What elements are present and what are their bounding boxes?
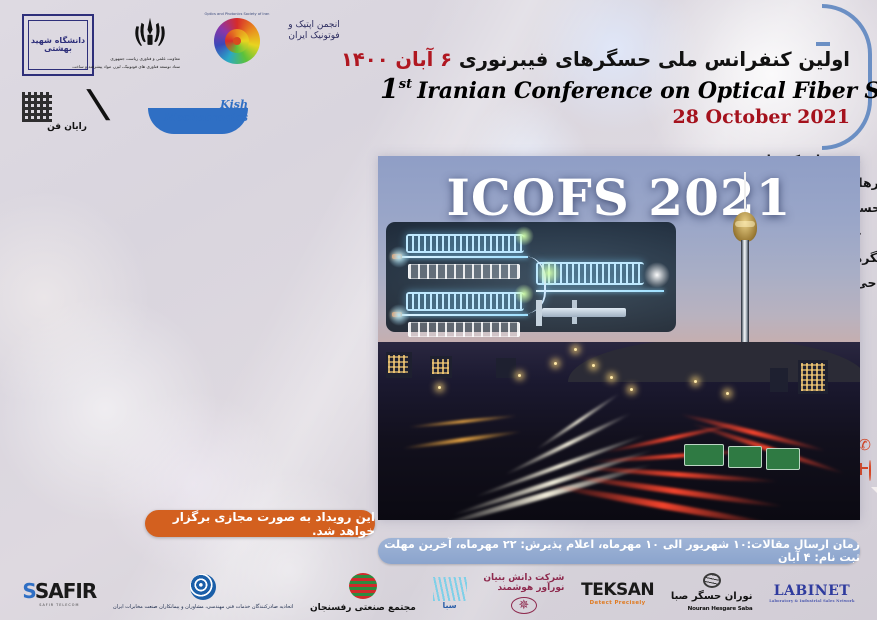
fiber-line-top — [394, 256, 528, 258]
sponsor-teksan-name: TEKSAN — [581, 580, 654, 600]
saba-fan-icon — [433, 577, 467, 601]
conference-title-en-wrap: 1st Iranian Conference on Optical Fiber … — [380, 74, 850, 105]
sponsor-labinet-sub: Laboratory & Industrial Sales Network — [769, 599, 854, 603]
road-sign — [766, 448, 800, 470]
sponsor-nouran-name: نوران حسگر صبا — [671, 591, 753, 602]
building — [496, 358, 516, 378]
grating-bottom-icon — [408, 322, 520, 337]
sponsor-nooravar-prefix: شرکت دانش بنیان — [483, 573, 564, 583]
icofs-wordmark: ICOFS 2021 — [378, 168, 860, 227]
sponsor-footer: LABINET Laboratory & Industrial Sales Ne… — [0, 566, 877, 620]
logo-rayan-fan: ⟋ رایان فن — [22, 90, 112, 142]
street-lamp — [694, 380, 697, 383]
conference-ordinal: 1st — [380, 74, 412, 105]
street-lamp — [574, 348, 577, 351]
logo-kish-mechatronics: Kish Mechatronics — [138, 98, 248, 142]
iran-emblem-icon — [120, 16, 180, 50]
light-glow — [388, 246, 410, 268]
street-lamp — [630, 388, 633, 391]
light-glow — [644, 262, 670, 288]
logo-iran-emblem: معاونت علمی و فناوری ریاست جمهوری ستاد ت… — [118, 16, 180, 70]
title-block: اولین کنفرانس ملی حسگرهای فیبرنوری ۶ آبا… — [380, 48, 850, 128]
road-sign — [728, 446, 762, 468]
logo-iran-caption-2: ستاد توسعه فناوری های فوتونیک، لیزر، موا… — [118, 64, 180, 70]
logo-sbu-label: دانشگاه شهید بهشتی — [28, 20, 88, 70]
light-glow — [388, 304, 410, 326]
sponsor-teksan: TEKSAN Detect Precisely — [581, 573, 654, 613]
sponsor-safir-sub: SAFIR TELECOM — [39, 603, 79, 607]
logo-opsi-ring-text: Optics and Photonics Society of Iran — [204, 12, 270, 16]
building-windows — [388, 355, 408, 373]
conference-title-fa: اولین کنفرانس ملی حسگرهای فیبرنوری ۶ آبا… — [380, 48, 850, 71]
conference-ordinal-suffix: st — [399, 77, 412, 92]
light-glow — [536, 260, 562, 286]
fiber-line-bottom — [394, 314, 528, 316]
title-fa-text: اولین کنفرانس ملی حسگرهای فیبرنوری — [459, 48, 850, 71]
sponsor-safir-name: SSAFIR — [22, 579, 96, 603]
light-trail — [402, 430, 521, 451]
sponsor-union-name: اتحادیه صادرکنندگان خدمات فنی مهندسی، مش… — [113, 604, 293, 610]
tehran-highway-night-scene — [378, 342, 860, 520]
street-lamp — [518, 374, 521, 377]
road-sign — [684, 444, 724, 466]
sponsor-saba: سبا — [433, 573, 467, 613]
rafsanjan-emblem-icon — [349, 573, 377, 599]
nouran-coil-icon — [703, 573, 721, 588]
grating-top-icon — [408, 264, 520, 279]
center-hero-image: ICOFS 2021 — [378, 156, 860, 520]
rayan-mark-icon: ⟋ — [53, 90, 116, 122]
sponsor-safir: SSAFIR SAFIR TELECOM — [22, 573, 96, 613]
conference-poster: دانشگاه شهید بهشتی معاونت علمی و فناوری … — [0, 0, 877, 620]
street-lamp — [554, 362, 557, 365]
street-lamp — [438, 386, 441, 389]
logo-kish-label: Kish Mechatronics — [148, 98, 248, 124]
light-glow — [514, 226, 534, 246]
sponsor-labinet-name: LABINET — [774, 583, 850, 599]
street-lamp — [610, 376, 613, 379]
street-lamp — [726, 392, 729, 395]
fiber-line-output — [536, 290, 664, 292]
header-logo-row: دانشگاه شهید بهشتی معاونت علمی و فناوری … — [8, 6, 368, 146]
logo-optics-photonics-society: Optics and Photonics Society of Iran — [204, 12, 270, 74]
union-spiral-icon — [190, 574, 216, 600]
fiber-coil-bottom-icon — [406, 292, 524, 311]
conference-date-fa: ۶ آبان ۱۴۰۰ — [341, 48, 452, 71]
caliper-icon — [536, 300, 626, 326]
conference-date-en: 28 October 2021 — [380, 106, 850, 128]
virtual-event-badge: این رویداد به صورت مجازی برگزار خواهد شد… — [145, 510, 375, 537]
conference-title-en: Iranian Conference on Optical Fiber Sens… — [417, 78, 877, 104]
deadline-bar: زمان ارسال مقالات:۱۰ شهریور الی ۱۰ مهرما… — [378, 538, 860, 564]
street-lamp — [592, 364, 595, 367]
fiber-coil-top-icon — [406, 234, 524, 253]
logo-opsi-disc-icon — [214, 18, 260, 64]
nooravar-emblem-icon: ✵ — [511, 597, 537, 614]
logo-iran-caption-1: معاونت علمی و فناوری ریاست جمهوری — [118, 56, 180, 62]
sponsor-nooravar-name: نورآور هوشمند — [498, 583, 565, 593]
light-trail — [408, 414, 518, 428]
fiber-interferometer-diagram — [386, 222, 676, 332]
sponsor-nouran-en: Nouran Hesgare Saba — [688, 606, 753, 612]
sponsor-teksan-tagline: Detect Precisely — [590, 600, 646, 606]
sponsor-telecom-union: اتحادیه صادرکنندگان خدمات فنی مهندسی، مش… — [113, 573, 293, 613]
light-glow — [514, 284, 534, 304]
sponsor-labinet: LABINET Laboratory & Industrial Sales Ne… — [769, 573, 854, 613]
sponsor-saba-name: سبا — [443, 601, 457, 610]
logo-photonics-label: انجمن اپتیک و فوتونیک ایران — [288, 20, 339, 41]
building-windows — [432, 359, 449, 374]
sponsor-rafsanjan-name: مجتمع صنعتی رفسنجان — [310, 603, 416, 613]
sponsor-rafsanjan-industrial: مجتمع صنعتی رفسنجان — [310, 573, 416, 613]
building — [770, 368, 788, 392]
sponsor-nooravar-hooshmand: شرکت دانش بنیان نورآور هوشمند ✵ — [483, 573, 564, 613]
building-windows — [801, 363, 825, 391]
sponsor-nouran-hesgare-saba: نوران حسگر صبا Nouran Hesgare Saba — [671, 573, 753, 613]
rayan-qr-icon — [22, 92, 52, 122]
logo-iran-photonics-society: انجمن اپتیک و فوتونیک ایران — [280, 20, 348, 70]
